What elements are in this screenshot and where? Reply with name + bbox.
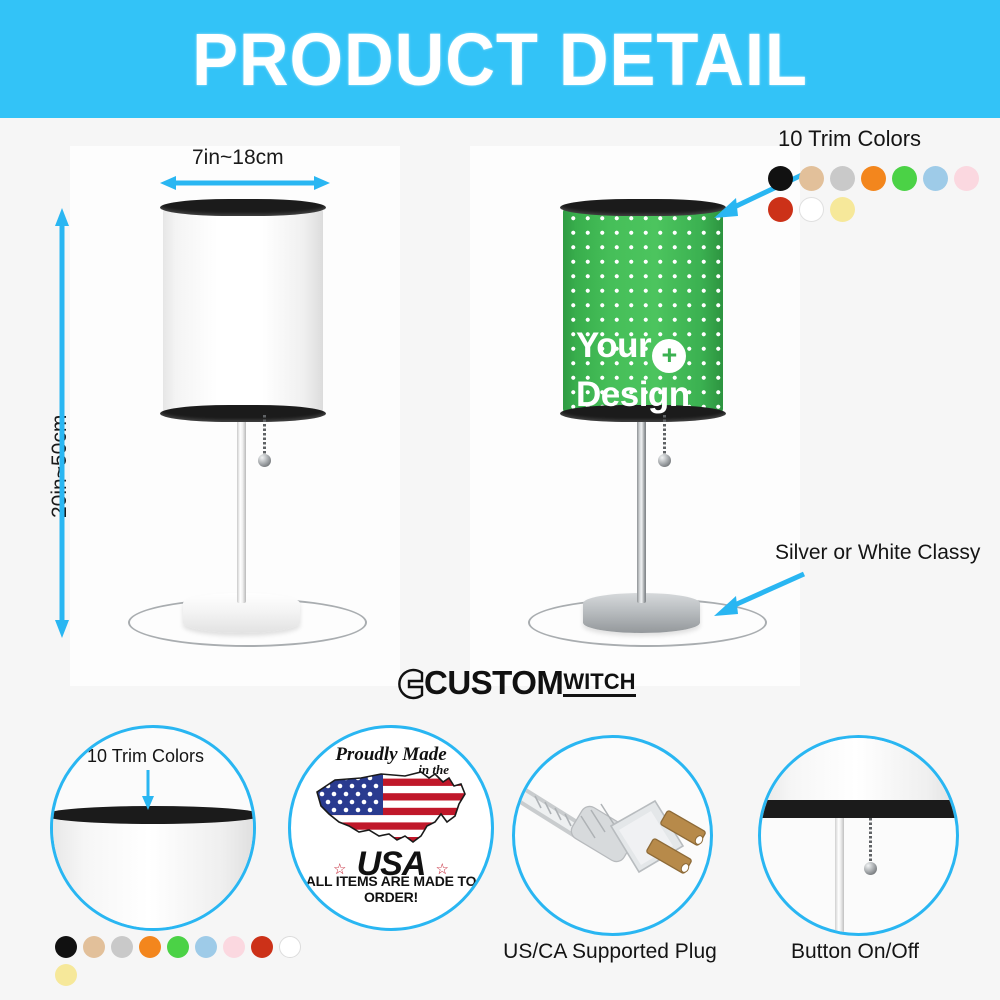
lampshade-green: Your+ Design xyxy=(563,208,723,413)
switch-shade-trim xyxy=(758,800,959,818)
feature-caption-plug: US/CA Supported Plug xyxy=(500,940,720,964)
feature-circle-trim-colors: 10 Trim Colors xyxy=(50,725,256,931)
product-detail-page: PRODUCT DETAIL xyxy=(0,0,1000,1000)
trim-colors-callout-label: 10 Trim Colors xyxy=(778,126,921,152)
lampshade-trim-bottom-white xyxy=(160,405,326,422)
brand-logo: CUSTOM WITCH xyxy=(392,666,636,699)
swatch-bottom-tan[interactable] xyxy=(83,936,105,958)
swatch-green[interactable] xyxy=(892,166,917,191)
swatch-white[interactable] xyxy=(799,197,824,222)
design-line-1-row: Your+ xyxy=(576,328,716,373)
switch-pull-chain xyxy=(869,818,872,866)
feature-caption-switch: Button On/Off xyxy=(745,940,965,964)
swatch-bottom-pink[interactable] xyxy=(223,936,245,958)
width-dimension-label: 7in~18cm xyxy=(192,146,284,170)
width-dimension-arrow xyxy=(160,173,330,193)
add-design-icon: + xyxy=(652,339,686,373)
swatch-bottom-pale-yellow[interactable] xyxy=(55,964,77,986)
power-plug-icon xyxy=(515,738,710,933)
switch-shade-surface xyxy=(758,735,959,806)
header-banner: PRODUCT DETAIL xyxy=(0,0,1000,118)
usa-badge-bottom-text: ALL ITEMS ARE MADE TO ORDER! xyxy=(291,873,491,905)
pull-chain-ball-white xyxy=(258,454,271,467)
lamp-pole-white xyxy=(237,408,246,603)
design-line-2-row: Design xyxy=(576,377,716,412)
logo-main-text: CUSTOM xyxy=(424,666,563,699)
switch-lamp-pole xyxy=(835,818,844,936)
base-finish-callout-arrow xyxy=(700,568,810,623)
base-finish-callout-label: Silver or White Classy xyxy=(775,541,980,565)
page-title: PRODUCT DETAIL xyxy=(35,0,965,118)
swatch-bottom-black[interactable] xyxy=(55,936,77,958)
swatch-bottom-gray[interactable] xyxy=(111,936,133,958)
lamp-pole-silver xyxy=(637,408,646,603)
feature-circle-made-in-usa: Proudly Made in the xyxy=(288,725,494,931)
swatch-tan[interactable] xyxy=(799,166,824,191)
swatch-pink[interactable] xyxy=(954,166,979,191)
feature-trim-arrow xyxy=(139,770,157,810)
pull-chain-green xyxy=(663,415,666,458)
lampshade-surface-white xyxy=(163,208,323,413)
swatch-gray[interactable] xyxy=(830,166,855,191)
your-design-placeholder: Your+ Design xyxy=(576,328,716,412)
feature-trim-inner-label: 10 Trim Colors xyxy=(87,746,204,767)
lampshade-trim-top-white xyxy=(160,199,326,216)
feature-circle-switch xyxy=(758,735,959,936)
swatch-black[interactable] xyxy=(768,166,793,191)
zoom-shade-surface xyxy=(50,816,256,931)
pull-chain-white xyxy=(263,415,266,458)
feature-circle-plug xyxy=(512,735,713,936)
pull-chain-ball-green xyxy=(658,454,671,467)
design-line-1-text: Your xyxy=(576,326,651,365)
logo-c-icon xyxy=(392,667,426,701)
height-dimension-arrow xyxy=(52,208,72,638)
design-line-2-text: Design xyxy=(576,375,690,414)
logo-sub-text: WITCH xyxy=(563,671,635,697)
swatch-light-blue[interactable] xyxy=(923,166,948,191)
swatch-bottom-light-blue[interactable] xyxy=(195,936,217,958)
swatch-orange[interactable] xyxy=(861,166,886,191)
swatch-bottom-red[interactable] xyxy=(251,936,273,958)
usa-badge: Proudly Made in the xyxy=(291,728,491,928)
switch-pull-chain-ball xyxy=(864,862,877,875)
usa-badge-top-text: Proudly Made xyxy=(291,744,491,766)
swatch-red[interactable] xyxy=(768,197,793,222)
trim-color-swatches-top xyxy=(768,166,1000,222)
main-stage: Your+ Design 7in~18cm 20in~50cm xyxy=(0,118,1000,1000)
lampshade-white xyxy=(163,208,323,413)
swatch-bottom-orange[interactable] xyxy=(139,936,161,958)
swatch-bottom-green[interactable] xyxy=(167,936,189,958)
swatch-bottom-white[interactable] xyxy=(279,936,301,958)
swatch-pale-yellow[interactable] xyxy=(830,197,855,222)
trim-color-swatches-bottom xyxy=(55,936,305,986)
